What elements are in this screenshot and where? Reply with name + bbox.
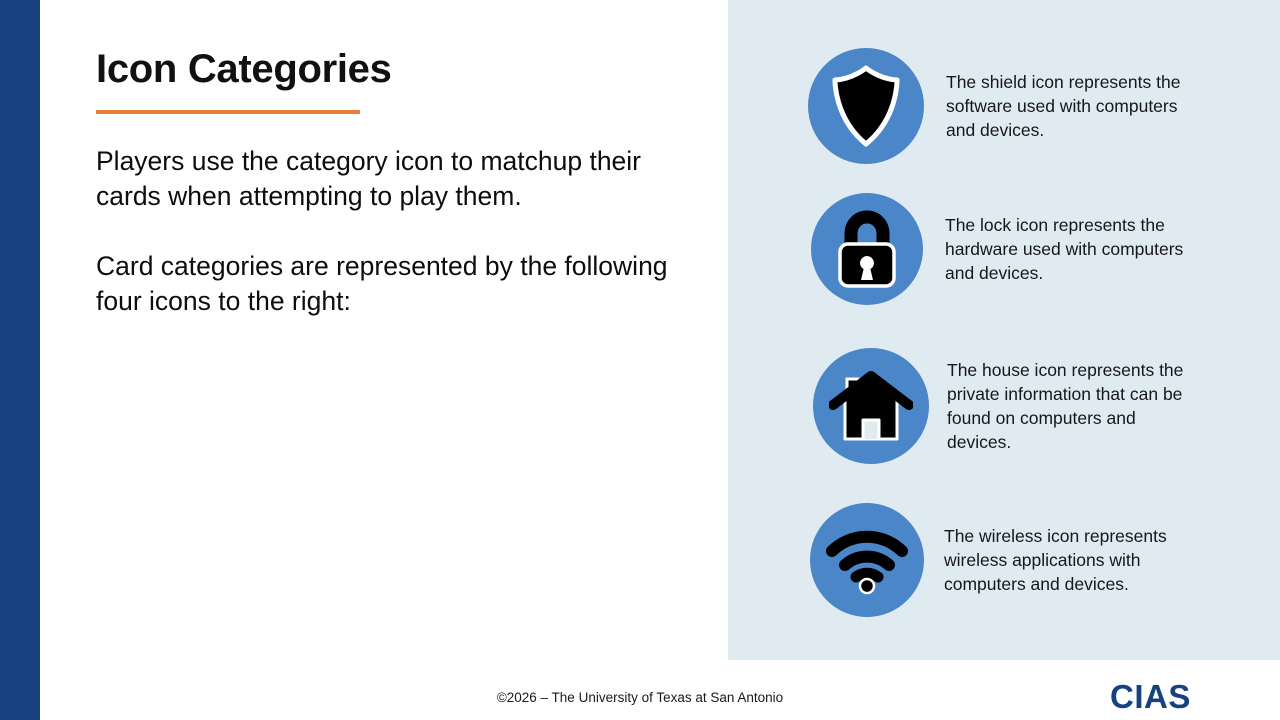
list-item-caption: The wireless icon represents wireless ap…	[944, 524, 1212, 596]
list-item-caption: The lock icon represents the hardware us…	[945, 213, 1207, 285]
footer-copyright: ©2026 – The University of Texas at San A…	[0, 690, 1280, 705]
list-item-lock: The lock icon represents the hardware us…	[811, 193, 1207, 305]
left-content-column: Icon Categories Players use the category…	[96, 48, 696, 319]
wireless-icon	[810, 503, 924, 617]
list-item-caption: The house icon represents the private in…	[947, 358, 1197, 454]
body-paragraph-1: Players use the category icon to matchup…	[96, 144, 676, 214]
lock-icon	[811, 193, 923, 305]
shield-icon	[808, 48, 924, 164]
page-title: Icon Categories	[96, 48, 696, 91]
slide-canvas: Icon Categories Players use the category…	[0, 0, 1280, 720]
list-item-wireless: The wireless icon represents wireless ap…	[810, 503, 1212, 617]
icon-legend-panel: The shield icon represents the software …	[728, 0, 1280, 660]
list-item-house: The house icon represents the private in…	[813, 348, 1197, 464]
list-item-caption: The shield icon represents the software …	[946, 70, 1208, 142]
cias-logo: CIAS	[1110, 678, 1191, 716]
body-text-block: Players use the category icon to matchup…	[96, 144, 676, 319]
list-item-shield: The shield icon represents the software …	[808, 48, 1208, 164]
house-icon	[813, 348, 929, 464]
title-underline-rule	[96, 110, 360, 114]
left-accent-bar	[0, 0, 40, 720]
body-paragraph-2: Card categories are represented by the f…	[96, 249, 676, 319]
